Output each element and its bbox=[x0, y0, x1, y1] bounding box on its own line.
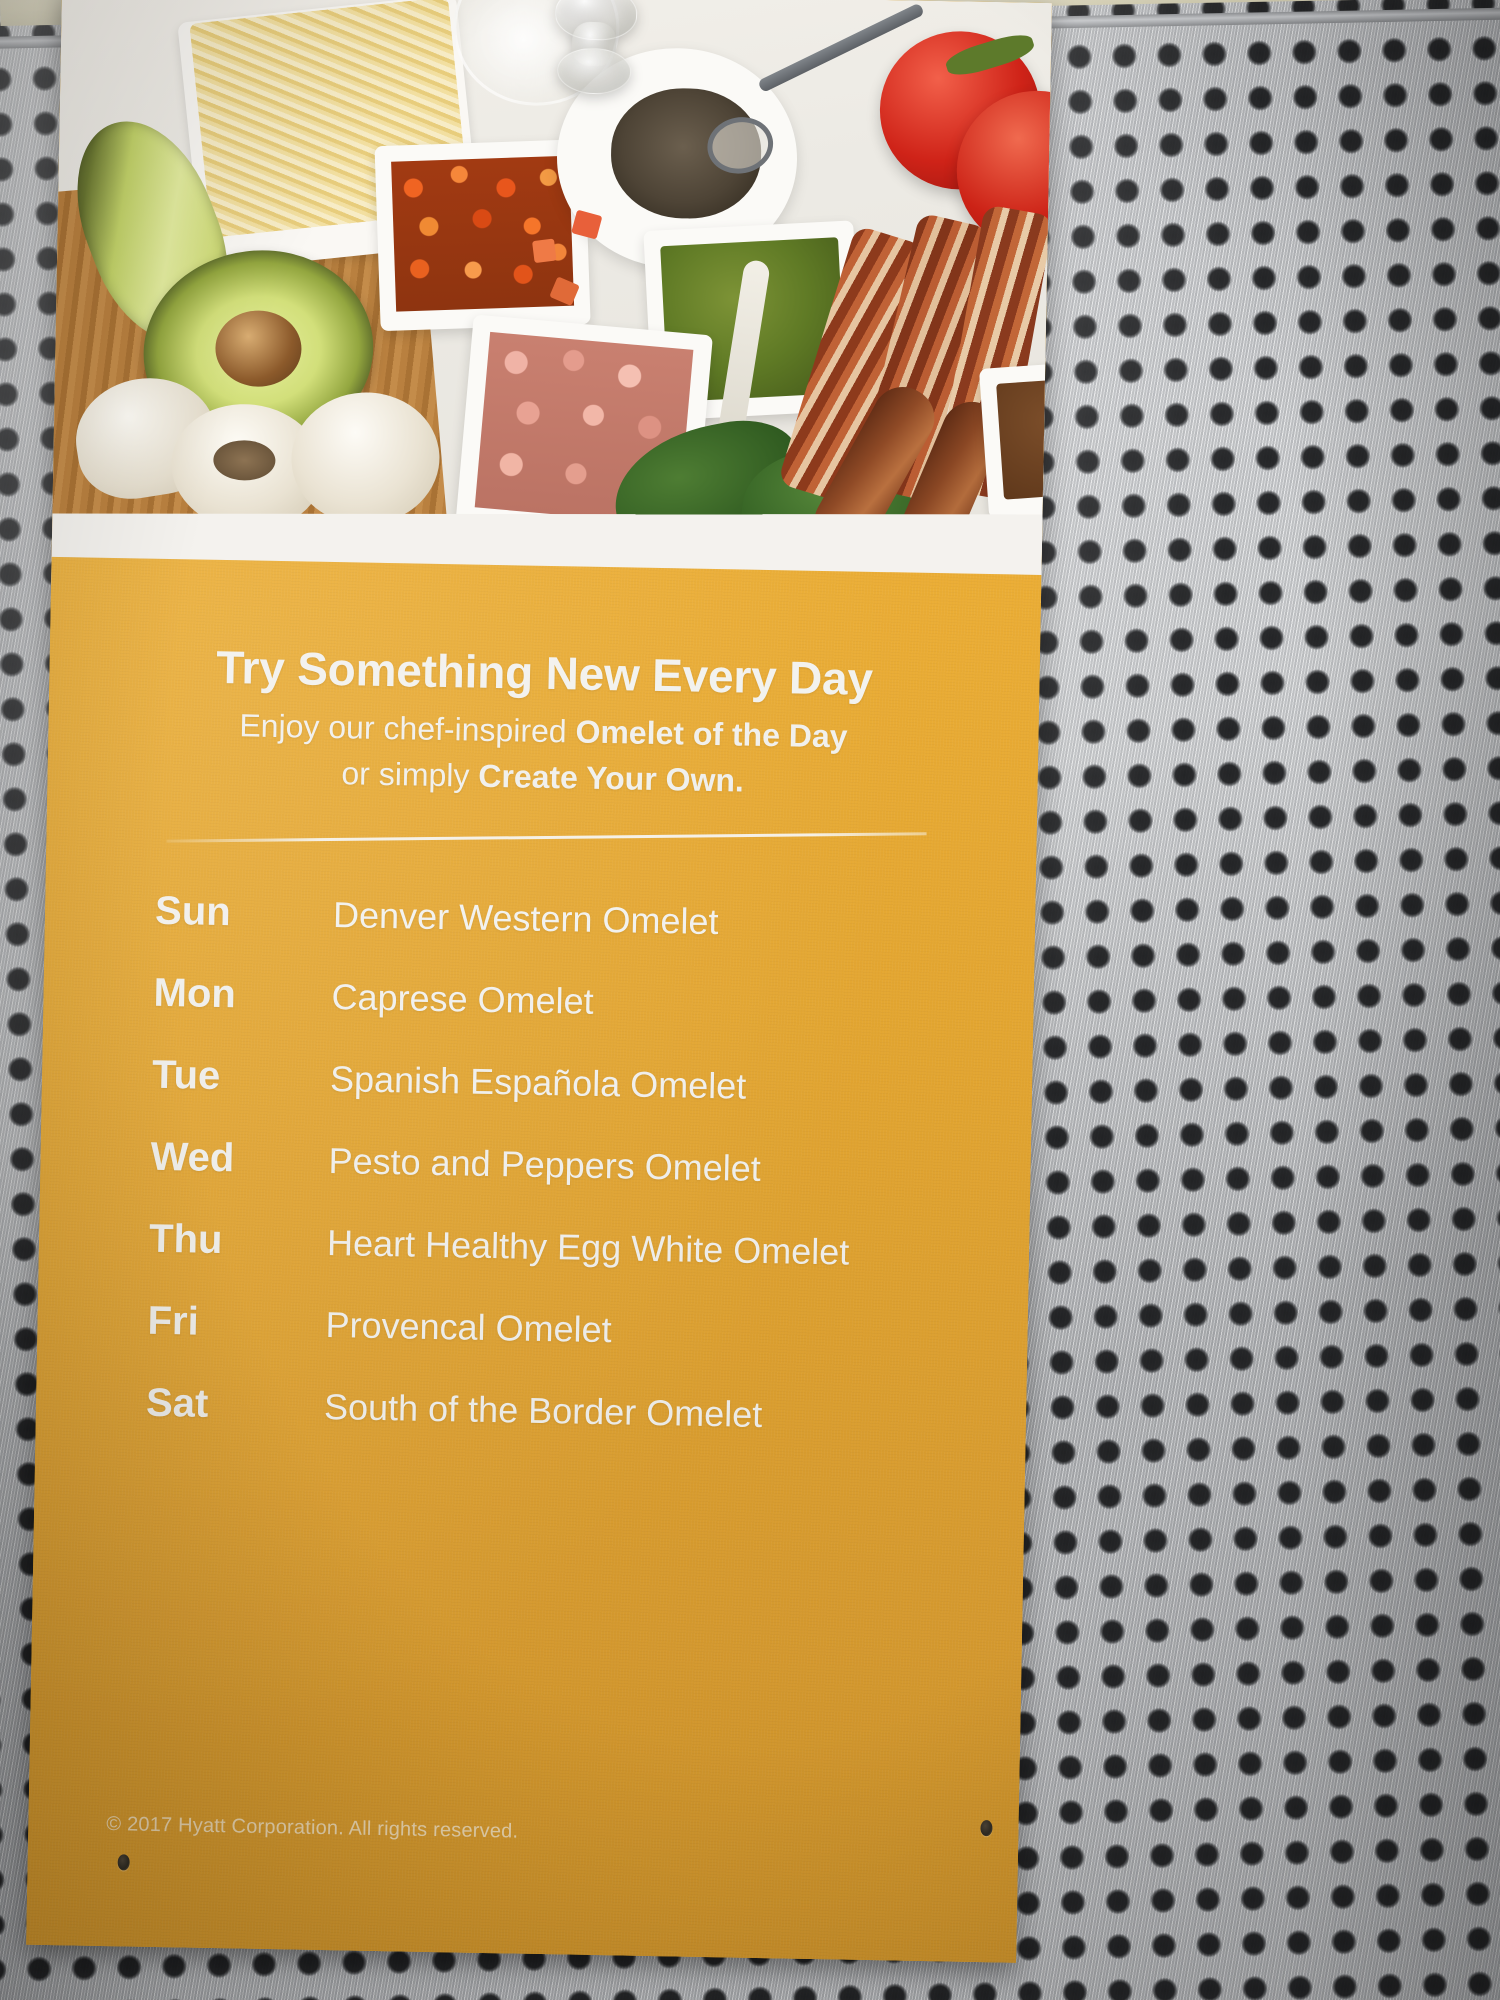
day-label: Sat bbox=[146, 1381, 327, 1429]
card-body: Try Something New Every Day Enjoy our ch… bbox=[26, 557, 1041, 1963]
weekly-omelet-list: Sun Denver Western Omelet Mon Caprese Om… bbox=[35, 887, 1035, 1479]
subtitle-line-2: or simply Create Your Own. bbox=[341, 755, 744, 798]
subtitle-line-1: Enjoy our chef-inspired Omelet of the Da… bbox=[239, 707, 848, 754]
subtitle-text-1: Enjoy our chef-inspired bbox=[239, 707, 576, 749]
dish-label: Provencal Omelet bbox=[325, 1304, 612, 1351]
day-label: Tue bbox=[152, 1053, 333, 1101]
omelet-menu-card: Try Something New Every Day Enjoy our ch… bbox=[26, 0, 1052, 1963]
subtitle-bold-1: Omelet of the Day bbox=[575, 713, 848, 754]
thumbtack-icon bbox=[546, 0, 642, 108]
day-label: Thu bbox=[149, 1217, 330, 1265]
dish-label: Denver Western Omelet bbox=[333, 894, 719, 943]
subtitle-bold-2: Create Your Own. bbox=[478, 758, 744, 799]
day-label: Sun bbox=[155, 889, 336, 937]
divider bbox=[167, 832, 927, 842]
photo-mushroom-gills bbox=[213, 440, 276, 481]
list-item: Sat South of the Border Omelet bbox=[35, 1379, 1026, 1479]
dish-label: Pesto and Peppers Omelet bbox=[328, 1140, 761, 1190]
day-label: Fri bbox=[147, 1299, 328, 1347]
dish-label: Caprese Omelet bbox=[331, 976, 594, 1023]
subtitle: Enjoy our chef-inspired Omelet of the Da… bbox=[47, 699, 1039, 809]
dish-label: South of the Border Omelet bbox=[324, 1386, 763, 1436]
photo-diced-cube-2 bbox=[532, 239, 557, 264]
thumbtack-base bbox=[556, 47, 632, 96]
day-label: Wed bbox=[150, 1135, 331, 1183]
copyright-notice: © 2017 Hyatt Corporation. All rights res… bbox=[106, 1813, 518, 1844]
page-title: Try Something New Every Day bbox=[49, 637, 1040, 709]
photo-diced-peppers bbox=[391, 156, 574, 312]
dish-label: Heart Healthy Egg White Omelet bbox=[327, 1222, 850, 1274]
screenshot-stage: Try Something New Every Day Enjoy our ch… bbox=[0, 0, 1500, 2000]
dish-label: Spanish Española Omelet bbox=[330, 1058, 747, 1108]
day-label: Mon bbox=[153, 971, 334, 1019]
subtitle-text-2: or simply bbox=[341, 755, 479, 794]
